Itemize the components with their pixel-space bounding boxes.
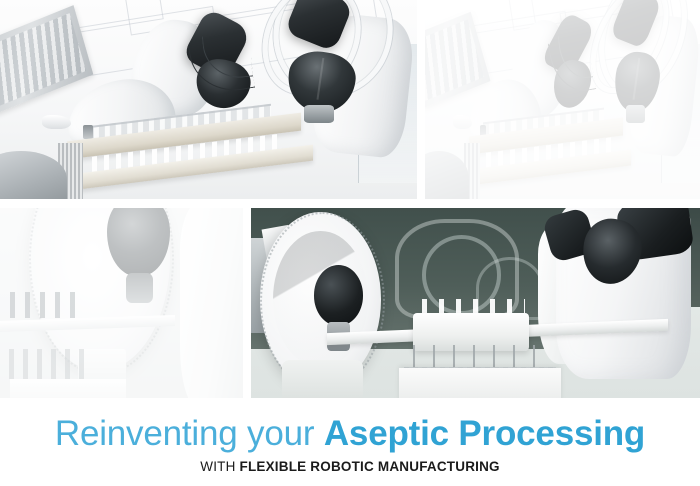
- bolt: [83, 125, 92, 139]
- cleanroom-scene: [0, 0, 417, 199]
- panel-top-right: [425, 0, 700, 199]
- subheadline: WITH FLEXIBLE ROBOTIC MANUFACTURING: [0, 454, 700, 475]
- headline-bold-text: Aseptic Processing: [324, 414, 645, 453]
- robot-wrist: [626, 105, 645, 123]
- panel-bottom-right: [251, 208, 700, 398]
- panel-top-left: [0, 0, 417, 199]
- robot-wrist: [126, 273, 153, 303]
- vial-row: [0, 292, 78, 319]
- vial-tray: [10, 379, 127, 398]
- caption-block: Reinventing your Aseptic Processing WITH…: [0, 398, 700, 486]
- steel-vessel: [0, 151, 67, 199]
- subheadline-prefix: WITH: [200, 459, 239, 474]
- image-collage: [0, 0, 700, 400]
- nozzle: [42, 115, 71, 129]
- vial-row: [0, 349, 87, 379]
- white-robot-arm: [180, 208, 243, 398]
- panel-bottom-left: [0, 208, 243, 398]
- isolator-closeup-scene-faded: [0, 208, 243, 398]
- white-cone: [282, 360, 363, 398]
- robot-wrist: [304, 105, 333, 123]
- headline: Reinventing your Aseptic Processing: [0, 398, 700, 454]
- black-robot-head: [314, 265, 363, 326]
- nozzle: [453, 115, 472, 129]
- aseptic-processing-banner: Reinventing your Aseptic Processing WITH…: [0, 0, 700, 486]
- subheadline-strong: FLEXIBLE ROBOTIC MANUFACTURING: [240, 459, 500, 474]
- headline-light-text: Reinventing your: [55, 414, 324, 453]
- isolator-rack-scene: [251, 208, 700, 398]
- steel-vessel: [425, 151, 469, 199]
- vial-tray: [399, 368, 561, 398]
- cleanroom-scene-faded: [425, 0, 700, 199]
